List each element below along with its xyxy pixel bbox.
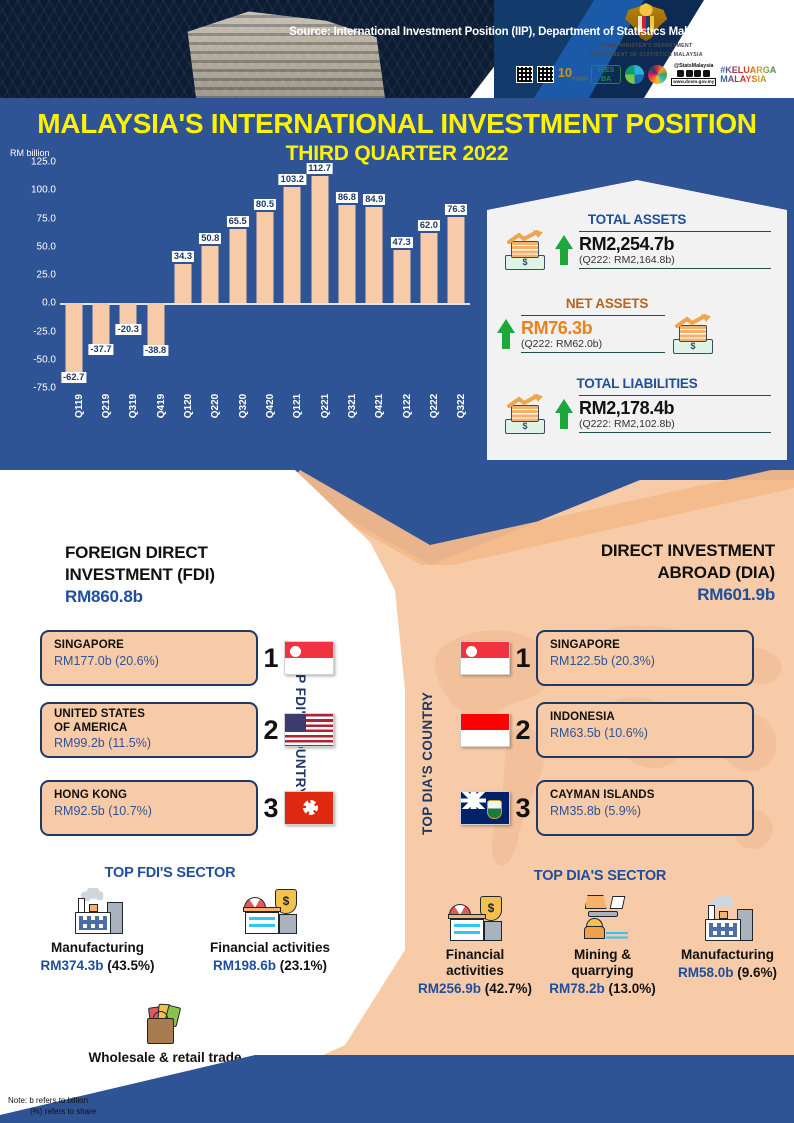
bar-cell: 62.0 (415, 162, 442, 388)
country-name: UNITED STATES (54, 708, 246, 722)
building-graphic (175, 6, 385, 98)
x-tick-cell: Q322 (443, 390, 470, 436)
sector-name: Financial (410, 947, 540, 963)
country-value: RM122.5b (20.3%) (550, 653, 742, 669)
sector-name: Financial activities (180, 940, 360, 956)
footnote: Note: b refers to billion (%) refers to … (8, 1095, 96, 1117)
header-logos: PRIME MINISTER'S DEPARTMENT DEPARTMENT O… (498, 2, 794, 98)
facebook-icon (686, 70, 693, 77)
total-assets-previous: (Q222: RM2,164.8b) (579, 254, 771, 266)
sector-value: RM256.9b (42.7%) (410, 980, 540, 997)
sector-name: Manufacturing (665, 947, 790, 963)
country-rank: 1 (258, 643, 284, 674)
header: PRIME MINISTER'S DEPARTMENT DEPARTMENT O… (0, 0, 794, 98)
total-assets-stat: TOTAL ASSETS RM2,254.7b (Q222: RM2,164.8… (503, 212, 771, 270)
country-row[interactable]: 2INDONESIARM63.5b (10.6%) (460, 702, 754, 758)
country-row[interactable]: 1SINGAPORERM122.5b (20.3%) (460, 630, 754, 686)
bar-cell: 65.5 (224, 162, 251, 388)
sector-item: ManufacturingRM374.3b (43.5%) (15, 888, 180, 974)
country-row[interactable]: SINGAPORERM177.0b (20.6%)1 (40, 630, 334, 686)
bar (338, 205, 355, 303)
y-tick: 50.0 (37, 241, 56, 252)
country-rank: 1 (510, 643, 536, 674)
keluarga-malaysia-logo: #KELUARGA MALAYSIA (720, 66, 776, 84)
instagram-icon (677, 70, 684, 77)
youtube-icon (703, 70, 710, 77)
bar-cell: 34.3 (169, 162, 196, 388)
net-assets-stat: NET ASSETS RM76.3b (Q222: RM62.0b) (497, 296, 717, 354)
country-value: RM35.8b (5.9%) (550, 803, 742, 819)
bar-value-label: 86.8 (336, 192, 358, 203)
chart-bars: -62.7-37.7-20.3-38.834.350.865.580.5103.… (60, 162, 470, 388)
sector-name: Manufacturing (15, 940, 180, 956)
x-tick-cell: Q222 (415, 390, 442, 436)
up-arrow-icon (555, 235, 573, 265)
page-title: MALAYSIA'S INTERNATIONAL INVESTMENT POSI… (0, 108, 794, 140)
y-tick: -25.0 (33, 326, 56, 337)
factory-icon (699, 895, 757, 943)
country-name-line2: OF AMERICA (54, 722, 246, 736)
up-arrow-icon (497, 319, 515, 349)
dia-heading: DIRECT INVESTMENT ABROAD (DIA) RM601.9b (470, 540, 775, 606)
fdi-sector-title: TOP FDI'S SECTOR (25, 865, 315, 881)
bar (420, 233, 437, 303)
country-box[interactable]: UNITED STATESOF AMERICARM99.2b (11.5%) (40, 702, 258, 758)
net-assets-value: RM76.3b (521, 318, 665, 338)
sector-value: RM78.2b (13.0%) (540, 980, 665, 997)
social-handle: @StatsMalaysia (671, 63, 716, 69)
bar (202, 246, 219, 303)
bar (256, 212, 273, 303)
flag-sg-icon (460, 641, 510, 675)
country-name: HONG KONG (54, 789, 246, 803)
growth-arrow-icon (507, 394, 545, 408)
x-tick-cell: Q419 (142, 390, 169, 436)
x-tick: Q322 (456, 394, 467, 418)
source-text: Source: International Investment Positio… (260, 26, 788, 38)
bar-cell: 47.3 (388, 162, 415, 388)
country-value: RM92.5b (10.7%) (54, 803, 246, 819)
country-name: INDONESIA (550, 711, 742, 725)
bar (147, 303, 164, 347)
qr-code-icon (516, 66, 533, 83)
x-tick: Q420 (265, 394, 276, 418)
x-tick-cell: Q121 (279, 390, 306, 436)
dia-sector-title: TOP DIA'S SECTOR (420, 868, 780, 884)
bar-value-label: 84.9 (363, 194, 385, 205)
bar (311, 176, 328, 303)
country-box[interactable]: HONG KONGRM92.5b (10.7%) (40, 780, 258, 836)
social-block: @StatsMalaysia www.dosm.gov.my (671, 63, 716, 86)
y-tick: -50.0 (33, 354, 56, 365)
sector-name-line2: quarrying (540, 963, 665, 979)
country-name: SINGAPORE (54, 639, 246, 653)
social-icons (671, 70, 716, 77)
bar-value-label: -38.8 (143, 345, 168, 356)
sector-value: RM374.3b (43.5%) (15, 957, 180, 974)
bar-value-label: 50.8 (199, 233, 221, 244)
sector-percent: (13.0%) (605, 981, 656, 996)
dia-heading-line-1: DIRECT INVESTMENT (470, 540, 775, 562)
x-tick-cell: Q221 (306, 390, 333, 436)
country-name: SINGAPORE (550, 639, 742, 653)
sector-name: Mining & (540, 947, 665, 963)
sdg-wheel-icon (648, 65, 667, 84)
dia-vertical-label: TOP DIA'S COUNTRY (420, 692, 435, 835)
net-assets-previous: (Q222: RM62.0b) (521, 338, 665, 350)
x-tick: Q121 (292, 394, 303, 418)
bar-value-label: 76.3 (445, 204, 467, 215)
x-tick: Q221 (320, 394, 331, 418)
x-tick-cell: Q122 (388, 390, 415, 436)
y-tick: 75.0 (37, 213, 56, 224)
net-assets-title: NET ASSETS (497, 296, 717, 311)
x-tick-cell: Q320 (224, 390, 251, 436)
country-row[interactable]: UNITED STATESOF AMERICARM99.2b (11.5%)2 (40, 702, 334, 758)
sector-value: RM58.0b (9.6%) (665, 964, 790, 981)
bar (284, 187, 301, 304)
x-tick-cell: Q120 (169, 390, 196, 436)
growth-arrow-icon (675, 314, 713, 328)
fdi-total-amount: RM860.8b (65, 586, 315, 608)
bar-cell: -20.3 (115, 162, 142, 388)
x-tick: Q120 (183, 394, 194, 418)
x-tick: Q122 (402, 394, 413, 418)
x-tick-cell: Q321 (333, 390, 360, 436)
x-tick-cell: Q119 (60, 390, 87, 436)
bar-cell: 76.3 (443, 162, 470, 388)
country-box[interactable]: INDONESIARM63.5b (10.6%) (536, 702, 754, 758)
bar-value-label: 62.0 (418, 220, 440, 231)
hies-ba-logo: HiES BA (591, 65, 621, 84)
bar-cell: 50.8 (197, 162, 224, 388)
bar-cell: -37.7 (87, 162, 114, 388)
bar-cell: 80.5 (251, 162, 278, 388)
bar-cell: -62.7 (60, 162, 87, 388)
bar-value-label: 112.7 (306, 163, 333, 174)
sector-percent: (43.5%) (104, 958, 155, 973)
bar-value-label: 65.5 (227, 216, 249, 227)
country-row[interactable]: 3CAYMAN ISLANDSRM35.8b (5.9%) (460, 780, 754, 836)
bar-cell: 103.2 (279, 162, 306, 388)
mystats-swirl-icon (625, 65, 644, 84)
country-rank: 3 (258, 793, 284, 824)
bar-cell: 86.8 (333, 162, 360, 388)
sector-percent: (9.6%) (734, 965, 778, 980)
x-tick: Q421 (374, 394, 385, 418)
dia-heading-line-2: ABROAD (DIA) (470, 562, 775, 584)
total-assets-value: RM2,254.7b (579, 234, 771, 254)
total-liabilities-value: RM2,178.4b (579, 398, 771, 418)
bar (120, 303, 137, 326)
bank-icon (241, 888, 299, 936)
sector-percent: (23.1%) (276, 958, 327, 973)
fdi-heading-line-1: FOREIGN DIRECT (65, 542, 315, 564)
total-liabilities-stat: TOTAL LIABILITIES RM2,178.4b (Q222: RM2,… (503, 376, 771, 434)
country-box[interactable]: SINGAPORERM122.5b (20.3%) (536, 630, 754, 686)
flag-us-icon (284, 713, 334, 747)
fdi-heading: FOREIGN DIRECT INVESTMENT (FDI) RM860.8b (65, 542, 315, 608)
bar-value-label: 103.2 (279, 174, 306, 185)
y-tick: 0.0 (42, 298, 56, 309)
x-tick-cell: Q420 (251, 390, 278, 436)
total-assets-title: TOTAL ASSETS (503, 212, 771, 227)
bar (366, 207, 383, 303)
money-stack-icon (503, 394, 549, 434)
bar-value-label: 47.3 (391, 237, 413, 248)
money-stack-icon (503, 230, 549, 270)
bar (229, 229, 246, 303)
country-value: RM99.2b (11.5%) (54, 735, 246, 751)
bar-value-label: -20.3 (116, 324, 141, 335)
partner-logo-row: 10DOSM HiES BA @StatsMalaysia www.dosm.g… (498, 63, 794, 86)
country-value: RM177.0b (20.6%) (54, 653, 246, 669)
bank-icon (446, 895, 504, 943)
sector-item: Mining &quarryingRM78.2b (13.0%) (540, 895, 665, 997)
bar-value-label: -62.7 (61, 372, 86, 383)
bar (65, 303, 82, 374)
up-arrow-icon (555, 399, 573, 429)
sector-value: RM198.6b (23.1%) (180, 957, 360, 974)
x-tick: Q319 (128, 394, 139, 418)
total-liabilities-previous: (Q222: RM2,102.8b) (579, 418, 771, 430)
flag-id-icon (460, 713, 510, 747)
countries-and-sectors-section: FOREIGN DIRECT INVESTMENT (FDI) RM860.8b… (0, 470, 794, 1070)
growth-arrow-icon (507, 230, 545, 244)
footnote-line-2: (%) refers to share (8, 1106, 96, 1117)
country-rank: 2 (510, 715, 536, 746)
mining-icon (574, 895, 632, 943)
sector-percent: (42.7%) (481, 981, 532, 996)
sector-item: Financial activitiesRM198.6b (23.1%) (180, 888, 360, 974)
total-liabilities-title: TOTAL LIABILITIES (503, 376, 771, 391)
country-rank: 2 (258, 715, 284, 746)
website-url[interactable]: www.dosm.gov.my (671, 78, 716, 86)
iip-bar-chart: RM billion 125.0100.075.050.025.00.0-25.… (8, 148, 478, 448)
infographic-page: PRIME MINISTER'S DEPARTMENT DEPARTMENT O… (0, 0, 794, 1123)
bar-cell: -38.8 (142, 162, 169, 388)
dia-total-amount: RM601.9b (470, 584, 775, 606)
org-line-2: DEPARTMENT OF STATISTICS MALAYSIA (498, 52, 794, 59)
x-tick-cell: Q421 (361, 390, 388, 436)
bar-value-label: 80.5 (254, 199, 276, 210)
chart-band: MALAYSIA'S INTERNATIONAL INVESTMENT POSI… (0, 98, 794, 500)
x-tick-cell: Q219 (87, 390, 114, 436)
country-value: RM63.5b (10.6%) (550, 725, 742, 741)
flag-sg-icon (284, 641, 334, 675)
footnote-line-1: Note: b refers to billion (8, 1095, 96, 1106)
country-name: CAYMAN ISLANDS (550, 789, 742, 803)
money-stack-icon (671, 314, 717, 354)
sector-item: ManufacturingRM58.0b (9.6%) (665, 895, 790, 981)
x-tick: Q219 (101, 394, 112, 418)
flag-ky-icon (460, 791, 510, 825)
dosm-10-logo: 10DOSM (558, 66, 587, 83)
fdi-heading-line-2: INVESTMENT (FDI) (65, 564, 315, 586)
country-box[interactable]: SINGAPORERM177.0b (20.6%) (40, 630, 258, 686)
x-tick: Q320 (238, 394, 249, 418)
x-tick-cell: Q220 (197, 390, 224, 436)
twitter-icon (694, 70, 701, 77)
bar-value-label: -37.7 (88, 344, 113, 355)
x-tick-cell: Q319 (115, 390, 142, 436)
bar-cell: 84.9 (361, 162, 388, 388)
sector-name-line2: activities (410, 963, 540, 979)
y-axis-ticks: 125.0100.075.050.025.00.0-25.0-50.0-75.0 (8, 162, 60, 388)
factory-icon (69, 888, 127, 936)
bar (393, 250, 410, 303)
bar-value-label: 34.3 (172, 251, 194, 262)
y-tick: 125.0 (31, 157, 56, 168)
x-tick: Q321 (347, 394, 358, 418)
x-tick: Q220 (210, 394, 221, 418)
y-tick: 25.0 (37, 270, 56, 281)
country-box[interactable]: CAYMAN ISLANDSRM35.8b (5.9%) (536, 780, 754, 836)
y-tick: 100.0 (31, 185, 56, 196)
x-tick: Q119 (74, 394, 85, 418)
chart-plot-area: -62.7-37.7-20.3-38.834.350.865.580.5103.… (60, 162, 470, 388)
x-tick: Q222 (429, 394, 440, 418)
bar (448, 217, 465, 303)
bar (92, 303, 109, 346)
org-line-1: PRIME MINISTER'S DEPARTMENT (498, 43, 794, 50)
bar (174, 264, 191, 303)
qr-code-icon (537, 66, 554, 83)
y-tick: -75.0 (33, 383, 56, 394)
country-rank: 3 (510, 793, 536, 824)
flag-hk-icon (284, 791, 334, 825)
x-tick: Q419 (156, 394, 167, 418)
bar-cell: 112.7 (306, 162, 333, 388)
country-row[interactable]: HONG KONGRM92.5b (10.7%)3 (40, 780, 334, 836)
x-axis-ticks: Q119Q219Q319Q419Q120Q220Q320Q420Q121Q221… (60, 390, 470, 436)
summary-stats-panel: TOTAL ASSETS RM2,254.7b (Q222: RM2,164.8… (487, 180, 787, 460)
header-building-photo (0, 0, 545, 98)
sector-item: FinancialactivitiesRM256.9b (42.7%) (410, 895, 540, 997)
shopping-bag-icon (136, 998, 194, 1046)
